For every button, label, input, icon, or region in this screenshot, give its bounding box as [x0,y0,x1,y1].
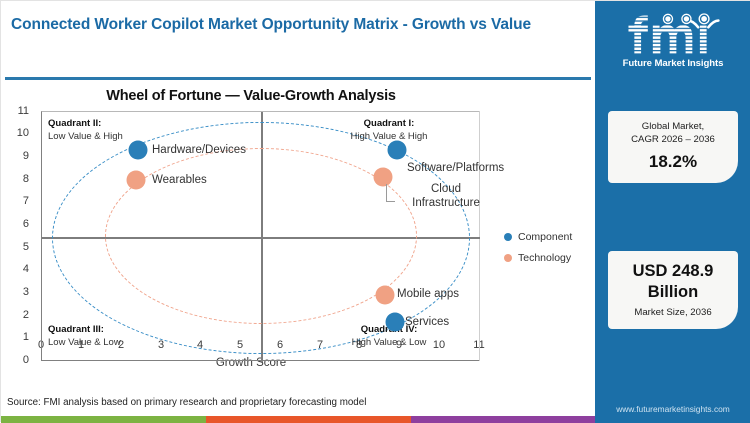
data-label-hardware-devices: Hardware/Devices [152,143,246,157]
data-point-services[interactable] [385,313,404,332]
chart-legend: Component Technology [504,231,572,273]
quadrant-4-subtitle: High Value & Low [304,337,474,350]
page-title: Connected Worker Copilot Market Opportun… [11,15,577,36]
brand-panel: Future Market Insights Global Market, CA… [595,1,750,423]
data-point-cloud-infrastructure[interactable] [373,167,392,186]
y-tick-11: 11 [7,105,29,117]
fmi-logo: Future Market Insights [595,9,750,73]
cagr-subtitle-line1: Global Market, [616,121,730,134]
y-tick-9: 9 [7,150,29,162]
stat-card-cagr: Global Market, CAGR 2026 – 2036 18.2% [608,111,738,183]
quadrant-2-title: Quadrant II: [48,118,218,131]
legend-item-component[interactable]: Component [504,231,572,243]
data-label-cloud-infrastructure: Cloud Infrastructure [400,182,492,211]
site-url[interactable]: www.futuremarketinsights.com [595,404,750,414]
y-tick-2: 2 [7,309,29,321]
header: Connected Worker Copilot Market Opportun… [1,7,595,71]
y-tick-6: 6 [7,218,29,230]
data-label-services: Services [405,315,449,329]
y-tick-1: 1 [7,331,29,343]
y-tick-4: 4 [7,263,29,275]
market-size-subtitle: Market Size, 2036 [616,307,730,320]
quadrant-3-subtitle: Low Value & Low [48,337,218,350]
content-column: Connected Worker Copilot Market Opportun… [1,1,595,423]
plot-right-border [479,111,480,361]
y-tick-10: 10 [7,127,29,139]
legend-label-technology: Technology [518,252,571,264]
leader-line-cloud-infrastructure-foot [386,201,395,202]
y-tick-8: 8 [7,173,29,185]
source-note: Source: FMI analysis based on primary re… [7,397,567,408]
data-point-hardware-devices[interactable] [128,141,147,160]
infographic-page: Connected Worker Copilot Market Opportun… [0,0,750,422]
legend-item-technology[interactable]: Technology [504,252,572,264]
data-point-mobile-apps[interactable] [375,285,394,304]
data-label-wearables: Wearables [152,173,207,187]
quadrant-label-2: Quadrant II: Low Value & High [48,118,218,144]
quadrant-3-title: Quadrant III: [48,324,218,337]
fmi-logo-icon [617,13,729,55]
legend-dot-technology-icon [504,254,512,262]
market-size-value-line2: Billion [616,282,730,303]
y-tick-5: 5 [7,241,29,253]
plot-area: Quadrant II: Low Value & High Quadrant I… [41,111,479,361]
quadrant-1-subtitle: High Value & High [304,131,474,144]
y-tick-3: 3 [7,286,29,298]
fmi-logo-subtitle: Future Market Insights [623,58,724,69]
data-point-software-platforms[interactable] [387,141,406,160]
header-divider [5,77,591,80]
y-tick-7: 7 [7,195,29,207]
legend-dot-component-icon [504,233,512,241]
legend-label-component: Component [518,231,572,243]
y-tick-0: 0 [7,354,29,366]
chart-title: Wheel of Fortune — Value-Growth Analysis [1,88,501,104]
cagr-subtitle-line2: CAGR 2026 – 2036 [616,134,730,147]
y-axis-label: Value Score [0,116,1,178]
data-point-wearables[interactable] [126,171,145,190]
quadrant-1-title: Quadrant I: [304,118,474,131]
data-label-mobile-apps: Mobile apps [397,287,459,301]
quadrant-label-1: Quadrant I: High Value & High [304,118,474,144]
chart-container: Wheel of Fortune — Value-Growth Analysis… [1,83,595,383]
quadrant-label-3: Quadrant III: Low Value & Low [48,324,218,350]
cagr-value: 18.2% [616,152,730,172]
stat-card-market-size: USD 248.9 Billion Market Size, 2036 [608,251,738,329]
leader-line-cloud-infrastructure [386,184,387,202]
market-size-value-line1: USD 248.9 [616,261,730,282]
data-label-software-platforms: Software/Platforms [407,161,504,175]
